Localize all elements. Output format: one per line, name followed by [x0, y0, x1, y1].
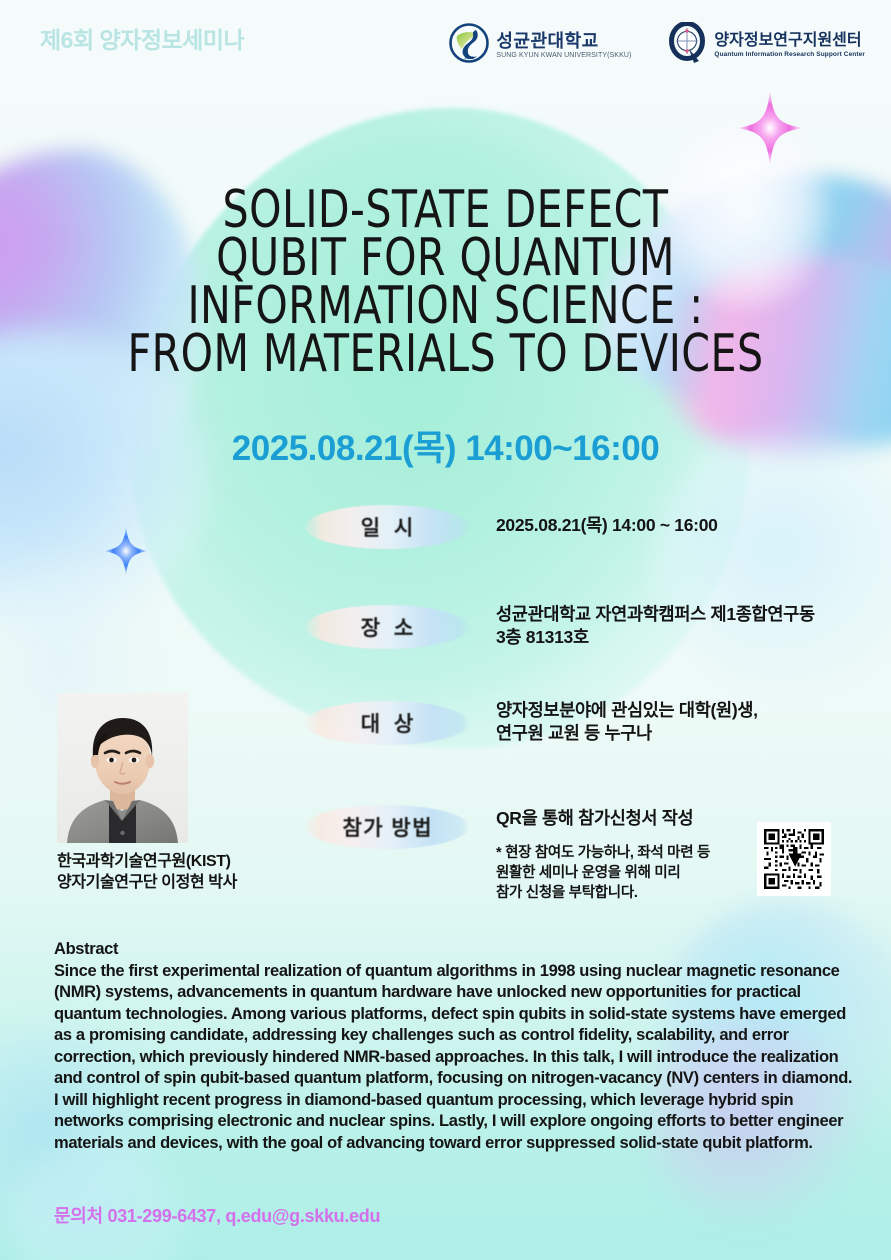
info-value-audience: 양자정보분야에 관심있는 대학(원)생, 연구원 교원 등 누구나 — [496, 699, 758, 745]
title-line-4: FROM MATERIALS TO DEVICES — [53, 330, 837, 378]
abstract-heading: Abstract — [54, 939, 854, 961]
poster-title: SOLID-STATE DEFECT QUBIT FOR QUANTUM INF… — [0, 186, 891, 378]
info-label-pill-location: 장 소 — [305, 605, 469, 649]
info-label-audience: 대 상 — [357, 708, 417, 738]
poster-date-headline: 2025.08.21(목) 14:00~16:00 — [0, 420, 891, 471]
qirsc-logo-korean: 양자정보연구지원센터 — [714, 33, 865, 50]
qirsc-logo-english: Quantum Information Research Support Cen… — [714, 51, 865, 58]
svg-text:1398: 1398 — [464, 55, 474, 60]
speaker-photo-container — [57, 693, 188, 843]
logo-group: 1398 성균관대학교 SUNG KYUN KWAN UNIVERSITY(SK… — [449, 22, 865, 69]
title-line-3: INFORMATION SCIENCE : — [53, 282, 837, 330]
info-value-participation: QR을 통해 참가신청서 작성 — [496, 807, 693, 830]
info-label-pill-datetime: 일 시 — [305, 505, 469, 549]
info-label-pill-audience: 대 상 — [305, 701, 469, 745]
skku-logo-english: SUNG KYUN KWAN UNIVERSITY(SKKU) — [496, 52, 631, 59]
info-label-datetime: 일 시 — [357, 512, 417, 542]
poster-header: 제6회 양자정보세미나 — [0, 0, 891, 90]
skku-logo: 1398 성균관대학교 SUNG KYUN KWAN UNIVERSITY(SK… — [449, 22, 631, 69]
qirsc-logo-text: 양자정보연구지원센터 Quantum Information Research … — [714, 33, 865, 59]
qirsc-logo: 양자정보연구지원센터 Quantum Information Research … — [669, 22, 865, 69]
title-line-1: SOLID-STATE DEFECT — [53, 186, 837, 234]
sparkle-star-pink-icon — [735, 88, 805, 168]
info-note-participation: * 현장 참여도 가능하나, 좌석 마련 등 원활한 세미나 운영을 위해 미리… — [496, 843, 710, 903]
contact-line: 문의처 031-299-6437, q.edu@g.skku.edu — [54, 1202, 380, 1228]
skku-logo-korean: 성균관대학교 — [496, 32, 631, 51]
skku-emblem-icon: 1398 — [449, 22, 489, 69]
qr-code[interactable] — [757, 822, 831, 896]
abstract-section: Abstract Since the first experimental re… — [54, 939, 854, 1154]
info-label-participation: 참가 방법 — [341, 812, 433, 842]
info-label-pill-participation: 참가 방법 — [305, 805, 469, 849]
qirsc-emblem-icon — [669, 22, 707, 69]
title-line-2: QUBIT FOR QUANTUM — [53, 234, 837, 282]
speaker-caption: 한국과학기술연구원(KIST) 양자기술연구단 이정현 박사 — [57, 851, 237, 893]
speaker-portrait — [57, 693, 188, 843]
sparkle-star-blue-icon — [103, 525, 149, 577]
qr-code-icon — [762, 827, 826, 891]
abstract-body: Since the first experimental realization… — [54, 961, 854, 1155]
seminar-poster: 제6회 양자정보세미나 — [0, 0, 891, 1260]
info-value-datetime: 2025.08.21(목) 14:00 ~ 16:00 — [496, 514, 718, 537]
skku-logo-text: 성균관대학교 SUNG KYUN KWAN UNIVERSITY(SKKU) — [496, 32, 631, 60]
info-label-location: 장 소 — [357, 612, 417, 642]
series-title: 제6회 양자정보세미나 — [40, 21, 244, 55]
info-value-location: 성균관대학교 자연과학캠퍼스 제1종합연구동 3층 81313호 — [496, 603, 815, 649]
